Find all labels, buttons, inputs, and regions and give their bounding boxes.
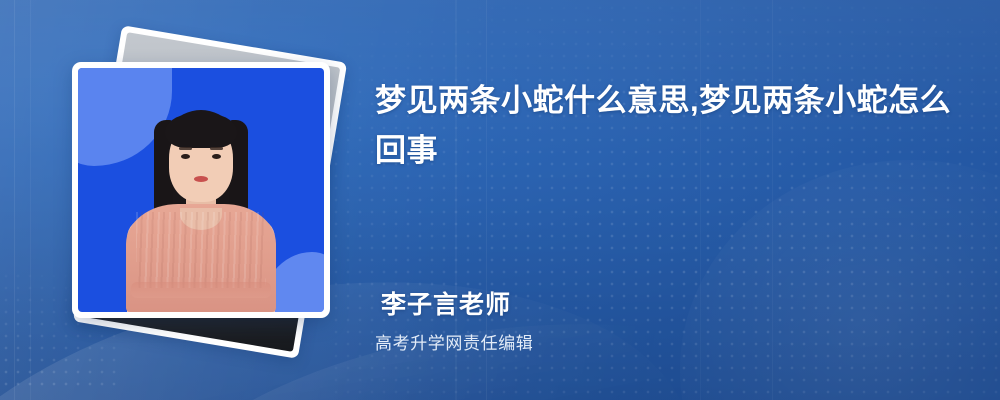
author-role: 高考升学网责任编辑 [375,329,533,354]
portrait-dress-pleats [136,212,266,288]
portrait-eye-right [212,154,221,159]
author-photo-stack [44,34,354,366]
banner-text-column: 梦见两条小蛇什么意思,梦见两条小蛇怎么回事 李子言老师 高考升学网责任编辑 [375,0,970,400]
portrait-dress-waist [131,282,271,298]
photo-card-front [72,62,330,318]
article-title: 梦见两条小蛇什么意思,梦见两条小蛇怎么回事 [375,76,970,176]
portrait-eyebrow-left [179,147,192,150]
article-header-banner: 梦见两条小蛇什么意思,梦见两条小蛇怎么回事 李子言老师 高考升学网责任编辑 [0,0,1000,400]
author-portrait-illustration [106,104,296,312]
portrait-eye-left [181,154,190,159]
portrait-eyebrow-right [210,147,223,150]
portrait-fringe [165,114,237,148]
author-name: 李子言老师 [381,285,533,321]
author-photo [78,68,324,312]
author-byline: 李子言老师 高考升学网责任编辑 [375,285,533,354]
portrait-mouth [194,176,208,182]
